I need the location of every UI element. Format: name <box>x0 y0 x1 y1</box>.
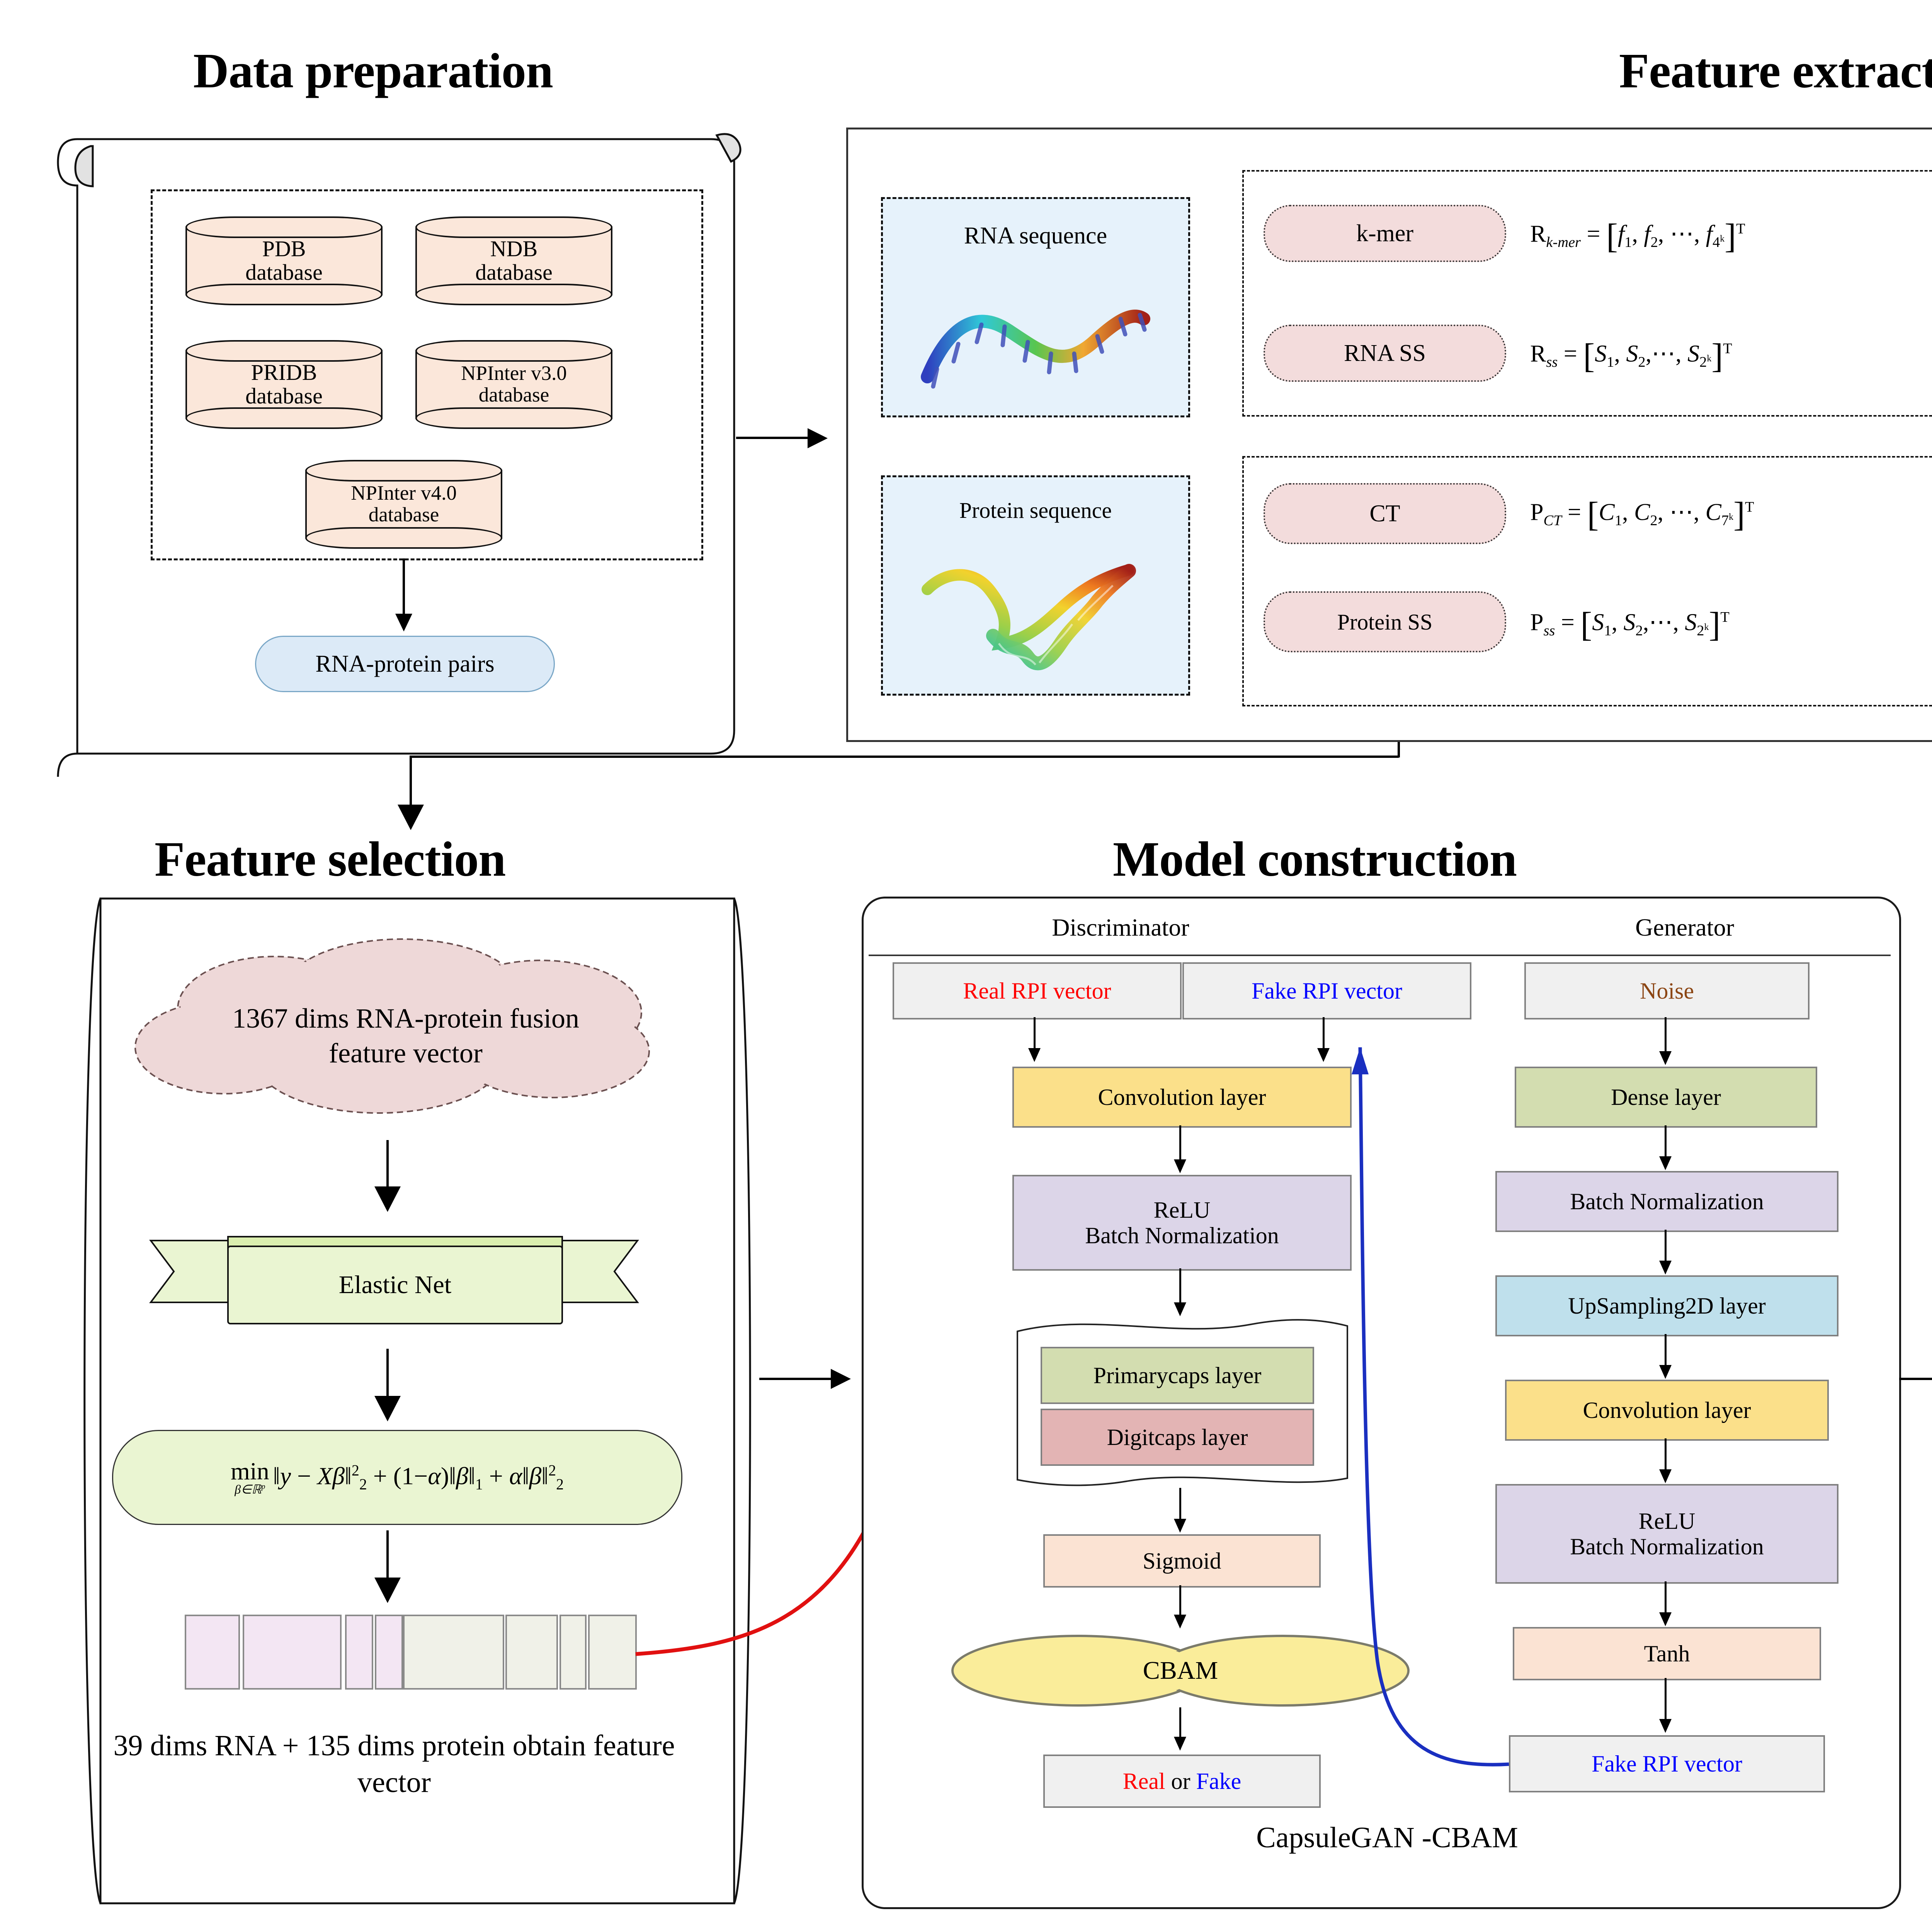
arrow-cbam-to-output-head <box>1174 1737 1186 1751</box>
digitcaps-layer: Digitcaps layer <box>1041 1409 1314 1466</box>
method-rna-ss-label: RNA SS <box>1344 340 1426 367</box>
fake-rpi-vector-bottom-label: Fake RPI vector <box>1592 1751 1742 1777</box>
arrow-gconv-to-relu-line <box>1665 1438 1667 1471</box>
arrow-upsample-to-conv-line <box>1665 1334 1667 1367</box>
arrow-upsample-to-conv-head <box>1659 1365 1672 1379</box>
feature-cell-rna-1 <box>185 1615 240 1690</box>
arrow-fake-to-conv-head <box>1317 1048 1330 1062</box>
arrow-ribbon-to-formula-head <box>374 1396 401 1421</box>
arrow-selection-to-model-head <box>831 1369 851 1389</box>
arrow-noise-to-dense-head <box>1659 1051 1672 1065</box>
arrow-dense-to-bn-head <box>1659 1156 1672 1170</box>
arrow-conv-to-relu-head <box>1174 1159 1186 1173</box>
arrow-cloud-to-ribbon-line <box>386 1140 389 1190</box>
real-or-fake-output-box: Real or Fake <box>1043 1755 1321 1808</box>
arrow-fake-to-conv-line <box>1323 1017 1325 1050</box>
arrow-prep-to-selection-head <box>398 805 424 830</box>
primarycaps-layer: Primarycaps layer <box>1041 1347 1314 1404</box>
disc-relu-bn-label: ReLU Batch Normalization <box>1085 1197 1279 1248</box>
arrow-caps-to-sigmoid-head <box>1174 1519 1186 1533</box>
fake-rpi-vector-top-label: Fake RPI vector <box>1252 978 1402 1004</box>
arrow-grelu-to-tanh-line <box>1665 1581 1667 1614</box>
arrow-real-to-conv-line <box>1034 1017 1036 1050</box>
rna-structure-image <box>912 272 1159 400</box>
db-pdb-sub: database <box>245 260 323 285</box>
arrow-sigmoid-to-cbam-line <box>1179 1585 1181 1616</box>
db-npinter3-sub: database <box>479 384 549 406</box>
arrow-grelu-to-tanh-head <box>1659 1612 1672 1626</box>
elastic-net-formula-box: minβ∈ℝp ‖y − Xβ‖22 + (1−α)‖β‖1 + α‖β‖22 <box>112 1430 682 1525</box>
gen-upsampling-layer-label: UpSampling2D layer <box>1568 1293 1766 1319</box>
arrow-formula-to-bar-head <box>374 1578 401 1603</box>
db-npinter4: NPInter v4.0database <box>305 460 502 549</box>
gen-convolution-layer-label: Convolution layer <box>1583 1397 1751 1423</box>
db-npinter4-name: NPInter v4.0 <box>351 482 457 504</box>
digitcaps-layer-label: Digitcaps layer <box>1107 1424 1248 1450</box>
cbam-label: CBAM <box>951 1634 1410 1707</box>
fake-rpi-vector-box-bottom: Fake RPI vector <box>1509 1735 1825 1792</box>
arrow-bn-to-upsample-line <box>1665 1230 1667 1263</box>
arrow-bn-to-upsample-head <box>1659 1261 1672 1275</box>
arrow-ribbon-to-formula-line <box>386 1349 389 1399</box>
fusion-feature-cloud-label: 1367 dims RNA-protein fusion feature vec… <box>197 972 614 1099</box>
rna-sequence-panel: RNA sequence <box>881 197 1190 417</box>
formula-rna-ss: Rss = [S1, S2,⋯, S2k]T <box>1530 336 1732 376</box>
method-kmer-label: k-mer <box>1356 220 1413 247</box>
formula-kmer: Rk-mer = [f1, f2, ⋯, f4k]T <box>1530 216 1745 256</box>
arrow-cloud-to-ribbon-head <box>374 1186 401 1212</box>
formula-protein-ss: Pss = [S1, S2,⋯, S2k]T <box>1530 605 1730 645</box>
arrow-db-to-pairs-head <box>395 614 412 631</box>
db-pridb-name: PRIDB <box>251 360 317 385</box>
disc-relu-bn-layer: ReLU Batch Normalization <box>1012 1175 1352 1271</box>
arrow-prep-to-selection-line <box>410 757 412 808</box>
feature-cell-rna-3 <box>345 1615 373 1690</box>
feature-cell-protein-2 <box>505 1615 558 1690</box>
arrow-prep-to-extract-head <box>808 428 828 448</box>
output-or-label: or <box>1165 1768 1196 1794</box>
elastic-net-ribbon: Elastic Net <box>147 1225 641 1345</box>
gen-relu-bn-layer: ReLU Batch Normalization <box>1495 1484 1838 1584</box>
arrow-model-to-prediction-line <box>1899 1378 1932 1380</box>
arrow-caps-to-sigmoid-line <box>1179 1488 1181 1521</box>
feature-cell-protein-3 <box>560 1615 587 1690</box>
arrow-tanh-to-fake-line <box>1665 1678 1667 1721</box>
arrow-sigmoid-to-cbam-head <box>1174 1615 1186 1629</box>
noise-box: Noise <box>1524 962 1810 1019</box>
db-ndb: NDBdatabase <box>415 216 612 305</box>
model-header-divider <box>869 955 1891 956</box>
capsule-group-box: Primarycaps layer Digitcaps layer <box>1014 1316 1350 1488</box>
gen-upsampling-layer: UpSampling2D layer <box>1495 1275 1838 1336</box>
elastic-net-label: Elastic Net <box>228 1246 562 1324</box>
model-construction-title: Model construction <box>1113 831 1517 888</box>
gen-dense-layer-label: Dense layer <box>1611 1084 1721 1110</box>
arrow-noise-to-dense-line <box>1665 1017 1667 1054</box>
rna-sequence-label: RNA sequence <box>883 218 1188 253</box>
feature-cell-protein-4 <box>588 1615 637 1690</box>
output-fake-label: Fake <box>1196 1768 1242 1794</box>
noise-label: Noise <box>1640 978 1694 1004</box>
gen-tanh-layer: Tanh <box>1513 1627 1821 1680</box>
gen-batchnorm-layer-label: Batch Normalization <box>1570 1189 1764 1214</box>
gen-dense-layer: Dense layer <box>1515 1067 1817 1128</box>
db-npinter4-sub: database <box>369 504 439 526</box>
db-npinter3-name: NPInter v3.0 <box>461 362 567 385</box>
disc-convolution-layer: Convolution layer <box>1012 1067 1352 1128</box>
formula-ct: PCT = [C1, C2, ⋯, C7k]T <box>1530 495 1754 534</box>
real-rpi-vector-box: Real RPI vector <box>893 962 1182 1019</box>
arrow-db-to-pairs-line <box>403 558 405 616</box>
fake-rpi-vector-box-top: Fake RPI vector <box>1182 962 1471 1019</box>
gen-relu-bn-label: ReLU Batch Normalization <box>1570 1508 1764 1559</box>
arrow-gconv-to-relu-head <box>1659 1469 1672 1483</box>
data-preparation-title: Data preparation <box>193 43 553 99</box>
sigmoid-layer: Sigmoid <box>1043 1534 1321 1588</box>
fusion-feature-cloud: 1367 dims RNA-protein fusion feature vec… <box>108 935 699 1136</box>
feature-cell-rna-4 <box>375 1615 403 1690</box>
arrow-cbam-to-output-line <box>1179 1707 1181 1738</box>
rna-protein-pairs-label: RNA-protein pairs <box>315 650 494 678</box>
arrow-tanh-to-fake-head <box>1659 1719 1672 1733</box>
protein-sequence-panel: Protein sequence <box>881 475 1190 696</box>
feature-selection-title: Feature selection <box>155 831 505 888</box>
feature-cell-protein-1 <box>403 1615 504 1690</box>
arrow-conv-to-relu-line <box>1179 1125 1181 1162</box>
method-protein-ss[interactable]: Protein SS <box>1264 591 1506 652</box>
arrow-relu-to-caps-head <box>1174 1302 1186 1316</box>
arrow-prep-to-extract-line <box>736 437 810 439</box>
disc-convolution-layer-label: Convolution layer <box>1098 1084 1266 1110</box>
protein-structure-image <box>912 547 1159 682</box>
method-kmer[interactable]: k-mer <box>1264 205 1506 262</box>
feature-selection-caption: 39 dims RNA + 135 dims protein obtain fe… <box>112 1700 676 1828</box>
rna-protein-pairs-box: RNA-protein pairs <box>255 636 555 692</box>
arrow-selection-to-model-line <box>759 1378 833 1380</box>
primarycaps-layer-label: Primarycaps layer <box>1094 1363 1262 1388</box>
gen-convolution-layer: Convolution layer <box>1505 1380 1829 1441</box>
db-pridb-sub: database <box>245 383 323 408</box>
method-rna-ss[interactable]: RNA SS <box>1264 325 1506 382</box>
real-rpi-vector-label: Real RPI vector <box>963 978 1111 1004</box>
arrow-real-to-conv-head <box>1028 1048 1041 1062</box>
feature-extraction-title: Feature extraction <box>1619 43 1932 99</box>
protein-sequence-label: Protein sequence <box>883 493 1188 528</box>
gen-batchnorm-layer: Batch Normalization <box>1495 1171 1838 1232</box>
gen-tanh-layer-label: Tanh <box>1644 1641 1690 1666</box>
db-pdb-name: PDB <box>262 236 306 261</box>
db-pridb: PRIDBdatabase <box>185 340 383 429</box>
arrow-formula-to-bar-line <box>386 1530 389 1581</box>
method-ct-label: CT <box>1369 500 1400 528</box>
generator-label: Generator <box>1530 910 1839 945</box>
method-ct[interactable]: CT <box>1264 483 1506 544</box>
db-pdb: PDBdatabase <box>185 216 383 305</box>
discriminator-label: Discriminator <box>966 910 1275 945</box>
db-ndb-name: NDB <box>490 236 537 261</box>
arrow-prep-to-selection-h <box>410 756 1399 758</box>
output-real-label: Real <box>1123 1768 1165 1794</box>
feature-cell-rna-2 <box>243 1615 342 1690</box>
elastic-net-formula: minβ∈ℝp ‖y − Xβ‖22 + (1−α)‖β‖1 + α‖β‖22 <box>231 1460 564 1495</box>
db-npinter3: NPInter v3.0database <box>415 340 612 429</box>
method-protein-ss-label: Protein SS <box>1337 609 1433 635</box>
db-ndb-sub: database <box>475 260 553 285</box>
arrow-dense-to-bn-line <box>1665 1125 1667 1158</box>
capsulegan-cbam-footer: CapsuleGAN -CBAM <box>1020 1816 1754 1859</box>
sigmoid-layer-label: Sigmoid <box>1143 1548 1221 1574</box>
arrow-relu-to-caps-line <box>1179 1268 1181 1305</box>
cbam-shape: CBAM <box>951 1634 1410 1707</box>
